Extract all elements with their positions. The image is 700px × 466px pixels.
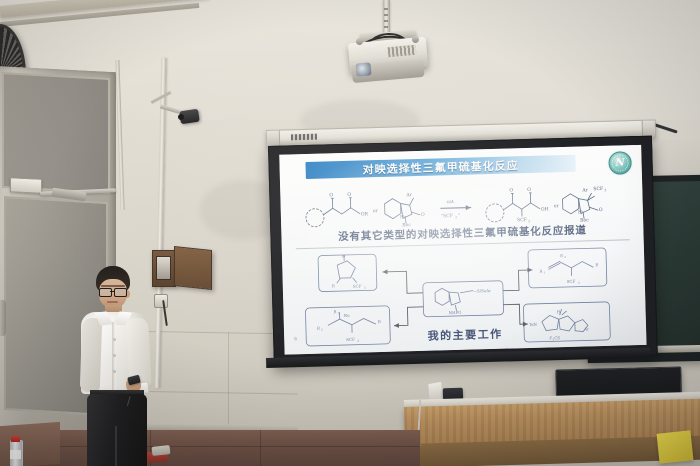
- svg-text:O: O: [329, 192, 333, 198]
- shirt-button: [113, 354, 116, 357]
- glasses-lens-left: [99, 288, 112, 297]
- svg-text:cat.: cat.: [447, 199, 456, 205]
- svg-text:R: R: [378, 319, 382, 324]
- svg-text:Nu: Nu: [344, 313, 351, 318]
- svg-text:O: O: [527, 187, 531, 193]
- screen-casing-end-left: [267, 131, 280, 147]
- slide-title: 对映选择性三氟甲硫基化反应: [362, 157, 518, 177]
- water-bottle-cap: [11, 436, 20, 442]
- svg-text:1: 1: [337, 311, 339, 315]
- presenter-mouth: [107, 301, 118, 303]
- floor-tile-seam: [0, 446, 420, 447]
- svg-text:H: H: [557, 309, 561, 314]
- svg-text:OR: OR: [361, 211, 369, 217]
- door-handle[interactable]: [0, 300, 6, 336]
- floor-left-section: [0, 422, 60, 466]
- presenter-sleeve-left: [80, 318, 103, 393]
- glasses-icon: [99, 288, 127, 295]
- presentation-slide: 对映选择性三氟甲硫基化反应 N: [279, 145, 646, 355]
- svg-text:SCF: SCF: [593, 186, 603, 192]
- svg-text:or: or: [554, 204, 560, 209]
- svg-text:O: O: [347, 192, 351, 198]
- presenter: [70, 266, 162, 466]
- svg-text:Ar: Ar: [405, 192, 412, 198]
- svg-text:N: N: [400, 214, 404, 220]
- svg-text:O: O: [599, 207, 603, 213]
- svg-text:N: N: [578, 210, 582, 216]
- screen-casing-label: [291, 134, 317, 141]
- reaction-scheme-row: O O OR or Ar O Boc N cat. "SCF3" O O: [280, 179, 643, 229]
- door-upper-panel[interactable]: [2, 72, 110, 194]
- university-seal-logo: N: [608, 151, 632, 175]
- trouser-seam: [115, 426, 117, 466]
- projector-mount-knob: [412, 36, 419, 43]
- svg-text:2: 2: [564, 255, 566, 259]
- svg-text:SCF: SCF: [517, 217, 527, 223]
- projection-screen-surface: 对映选择性三氟甲硫基化反应 N: [279, 145, 646, 355]
- projector-mount-knob: [356, 38, 363, 45]
- svg-text:Ar: Ar: [581, 187, 588, 193]
- svg-text:1: 1: [543, 271, 545, 275]
- glasses-lens-right: [114, 288, 127, 297]
- projector-pole-holes: [384, 4, 388, 32]
- svg-text:3: 3: [455, 216, 457, 220]
- svg-text:3: 3: [364, 286, 366, 290]
- classroom-floor: [0, 430, 420, 466]
- shirt-button: [113, 370, 116, 373]
- svg-text:3: 3: [528, 219, 530, 223]
- slide-title-band: 对映选择性三氟甲硫基化反应: [305, 155, 575, 179]
- screen-casing-end-right: [642, 120, 655, 136]
- projection-screen[interactable]: 对映选择性三氟甲硫基化反应 N: [268, 136, 658, 366]
- svg-text:R: R: [332, 283, 336, 288]
- door-closer-body: [10, 177, 42, 194]
- projector-lens-icon: [355, 62, 371, 76]
- svg-text:or: or: [373, 209, 379, 214]
- svg-text:"SCF: "SCF: [441, 213, 453, 219]
- yellow-bag[interactable]: [657, 430, 694, 463]
- floor-tile-seam: [260, 430, 261, 466]
- svg-text:3: 3: [604, 188, 606, 192]
- wall-seam: [228, 332, 229, 426]
- slide-page-number: 6: [294, 336, 297, 342]
- svg-text:R: R: [595, 262, 599, 267]
- svg-text:NHPG: NHPG: [449, 310, 462, 315]
- presenter-brow: [101, 285, 125, 287]
- svg-text:SCF: SCF: [567, 279, 576, 284]
- water-bottle-label: [10, 450, 21, 459]
- shirt-button: [113, 338, 116, 341]
- electrical-panel-door[interactable]: [174, 246, 212, 290]
- presenter-shirt-placket: [112, 322, 116, 394]
- svg-text:OH: OH: [541, 206, 549, 212]
- svg-text:O: O: [421, 212, 425, 218]
- svg-text:3: 3: [578, 281, 580, 285]
- svg-text:O: O: [509, 187, 513, 193]
- svg-text:SCF: SCF: [353, 284, 362, 289]
- photo-scene: 对映选择性三氟甲硫基化反应 N: [0, 0, 700, 466]
- svg-text:": ": [458, 213, 460, 219]
- svg-text:—S/SeAr: —S/SeAr: [473, 288, 491, 293]
